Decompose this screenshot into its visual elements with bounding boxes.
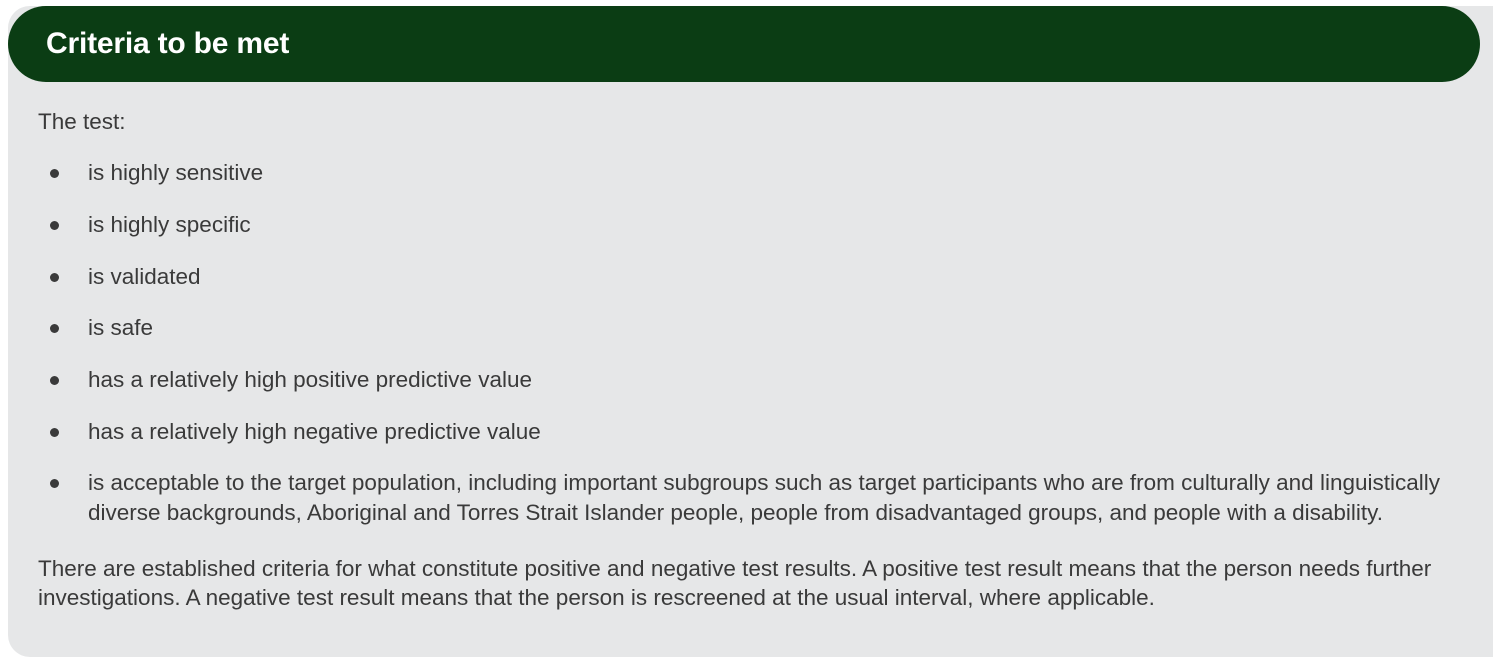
criteria-callout: Criteria to be met The test: is highly s…: [8, 6, 1493, 663]
list-item: is safe: [38, 313, 1463, 343]
bullet-icon: [50, 324, 59, 333]
lead-text: The test:: [38, 108, 1463, 136]
list-item: has a relatively high negative predictiv…: [38, 417, 1463, 447]
bullet-icon: [50, 169, 59, 178]
list-item: is acceptable to the target population, …: [38, 468, 1463, 527]
list-item-label: is validated: [88, 264, 201, 289]
list-item-label: is highly sensitive: [88, 160, 263, 185]
callout-header-bar: Criteria to be met: [8, 6, 1480, 82]
criteria-list: is highly sensitive is highly specific i…: [38, 158, 1463, 528]
bullet-icon: [50, 428, 59, 437]
list-item: is highly sensitive: [38, 158, 1463, 188]
callout-content: The test: is highly sensitive is highly …: [8, 82, 1493, 612]
list-item: is validated: [38, 262, 1463, 292]
list-item: has a relatively high positive predictiv…: [38, 365, 1463, 395]
bullet-icon: [50, 273, 59, 282]
list-item-label: has a relatively high negative predictiv…: [88, 419, 541, 444]
list-item-label: is acceptable to the target population, …: [88, 470, 1440, 525]
bullet-icon: [50, 376, 59, 385]
list-item: is highly specific: [38, 210, 1463, 240]
list-item-label: is safe: [88, 315, 153, 340]
closing-paragraph: There are established criteria for what …: [38, 554, 1463, 613]
list-item-label: has a relatively high positive predictiv…: [88, 367, 532, 392]
page-title: Criteria to be met: [46, 29, 289, 59]
list-item-label: is highly specific: [88, 212, 251, 237]
bullet-icon: [50, 221, 59, 230]
bullet-icon: [50, 479, 59, 488]
